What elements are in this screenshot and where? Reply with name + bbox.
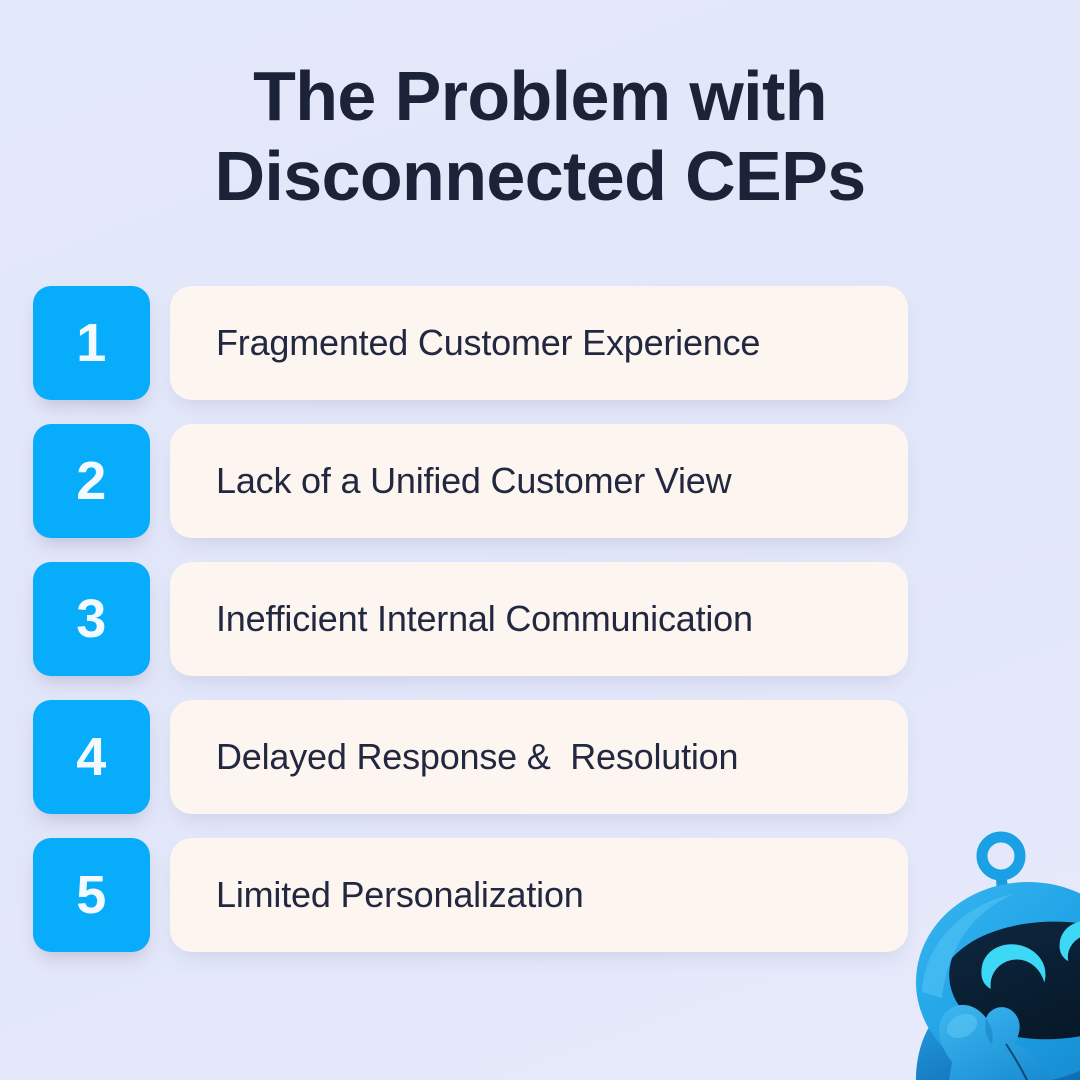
badge-number: 5 (76, 868, 107, 922)
list-item-card-4: Delayed Response & Resolution (170, 700, 908, 814)
list-item: 5 Limited Personalization (33, 838, 1043, 952)
list-item-label: Fragmented Customer Experience (170, 322, 784, 364)
list-item-card-1: Fragmented Customer Experience (170, 286, 908, 400)
list-item-card-3: Inefficient Internal Communication (170, 562, 908, 676)
list-item: 2 Lack of a Unified Customer View (33, 424, 1043, 538)
list-item-badge-4: 4 (33, 700, 150, 814)
badge-number: 2 (76, 454, 107, 508)
list-item-badge-1: 1 (33, 286, 150, 400)
list-item-label: Lack of a Unified Customer View (170, 460, 755, 502)
title-line-1: The Problem with (90, 56, 990, 136)
list-item-badge-5: 5 (33, 838, 150, 952)
list-item-label: Inefficient Internal Communication (170, 598, 777, 640)
badge-number: 1 (76, 316, 107, 370)
list-item: 3 Inefficient Internal Communication (33, 562, 1043, 676)
infographic-canvas: The Problem with Disconnected CEPs 1 Fra… (0, 0, 1080, 1080)
problem-list: 1 Fragmented Customer Experience 2 Lack … (33, 286, 1043, 952)
title-line-2: Disconnected CEPs (90, 136, 990, 216)
badge-number: 4 (76, 730, 107, 784)
list-item: 4 Delayed Response & Resolution (33, 700, 1043, 814)
list-item-card-2: Lack of a Unified Customer View (170, 424, 908, 538)
list-item: 1 Fragmented Customer Experience (33, 286, 1043, 400)
list-item-card-5: Limited Personalization (170, 838, 908, 952)
list-item-badge-3: 3 (33, 562, 150, 676)
list-item-label: Delayed Response & Resolution (170, 736, 762, 778)
badge-number: 3 (76, 592, 107, 646)
list-item-badge-2: 2 (33, 424, 150, 538)
page-title: The Problem with Disconnected CEPs (0, 56, 1080, 216)
list-item-label: Limited Personalization (170, 874, 608, 916)
